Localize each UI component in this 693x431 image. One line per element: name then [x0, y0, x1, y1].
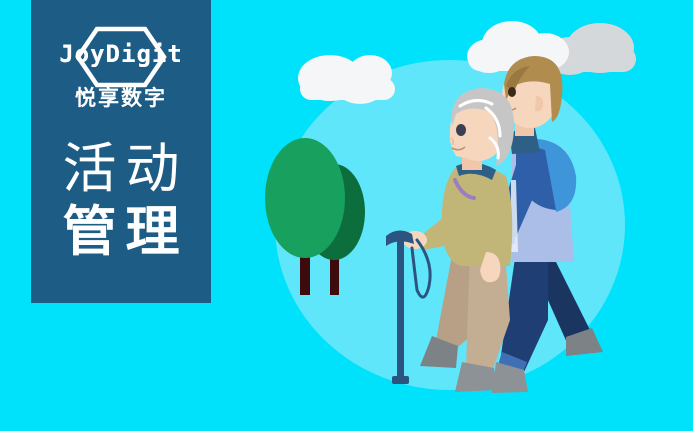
logo-wordmark: JoyDigit — [31, 42, 211, 66]
title-panel: JoyDigit 悦享数字 活动 管理 — [31, 0, 211, 303]
woman-eye — [456, 124, 466, 136]
page-title: 活动 管理 — [31, 138, 211, 264]
logo-chinese-name: 悦享数字 — [31, 88, 211, 109]
banner-canvas: JoyDigit 悦享数字 活动 管理 — [0, 0, 693, 431]
page-title-line1: 活动 — [31, 138, 211, 201]
cloud-left-icon — [298, 55, 395, 104]
page-title-line2: 管理 — [31, 201, 211, 264]
man-eye — [508, 87, 516, 97]
brand-logo: JoyDigit 悦享数字 — [31, 26, 211, 126]
